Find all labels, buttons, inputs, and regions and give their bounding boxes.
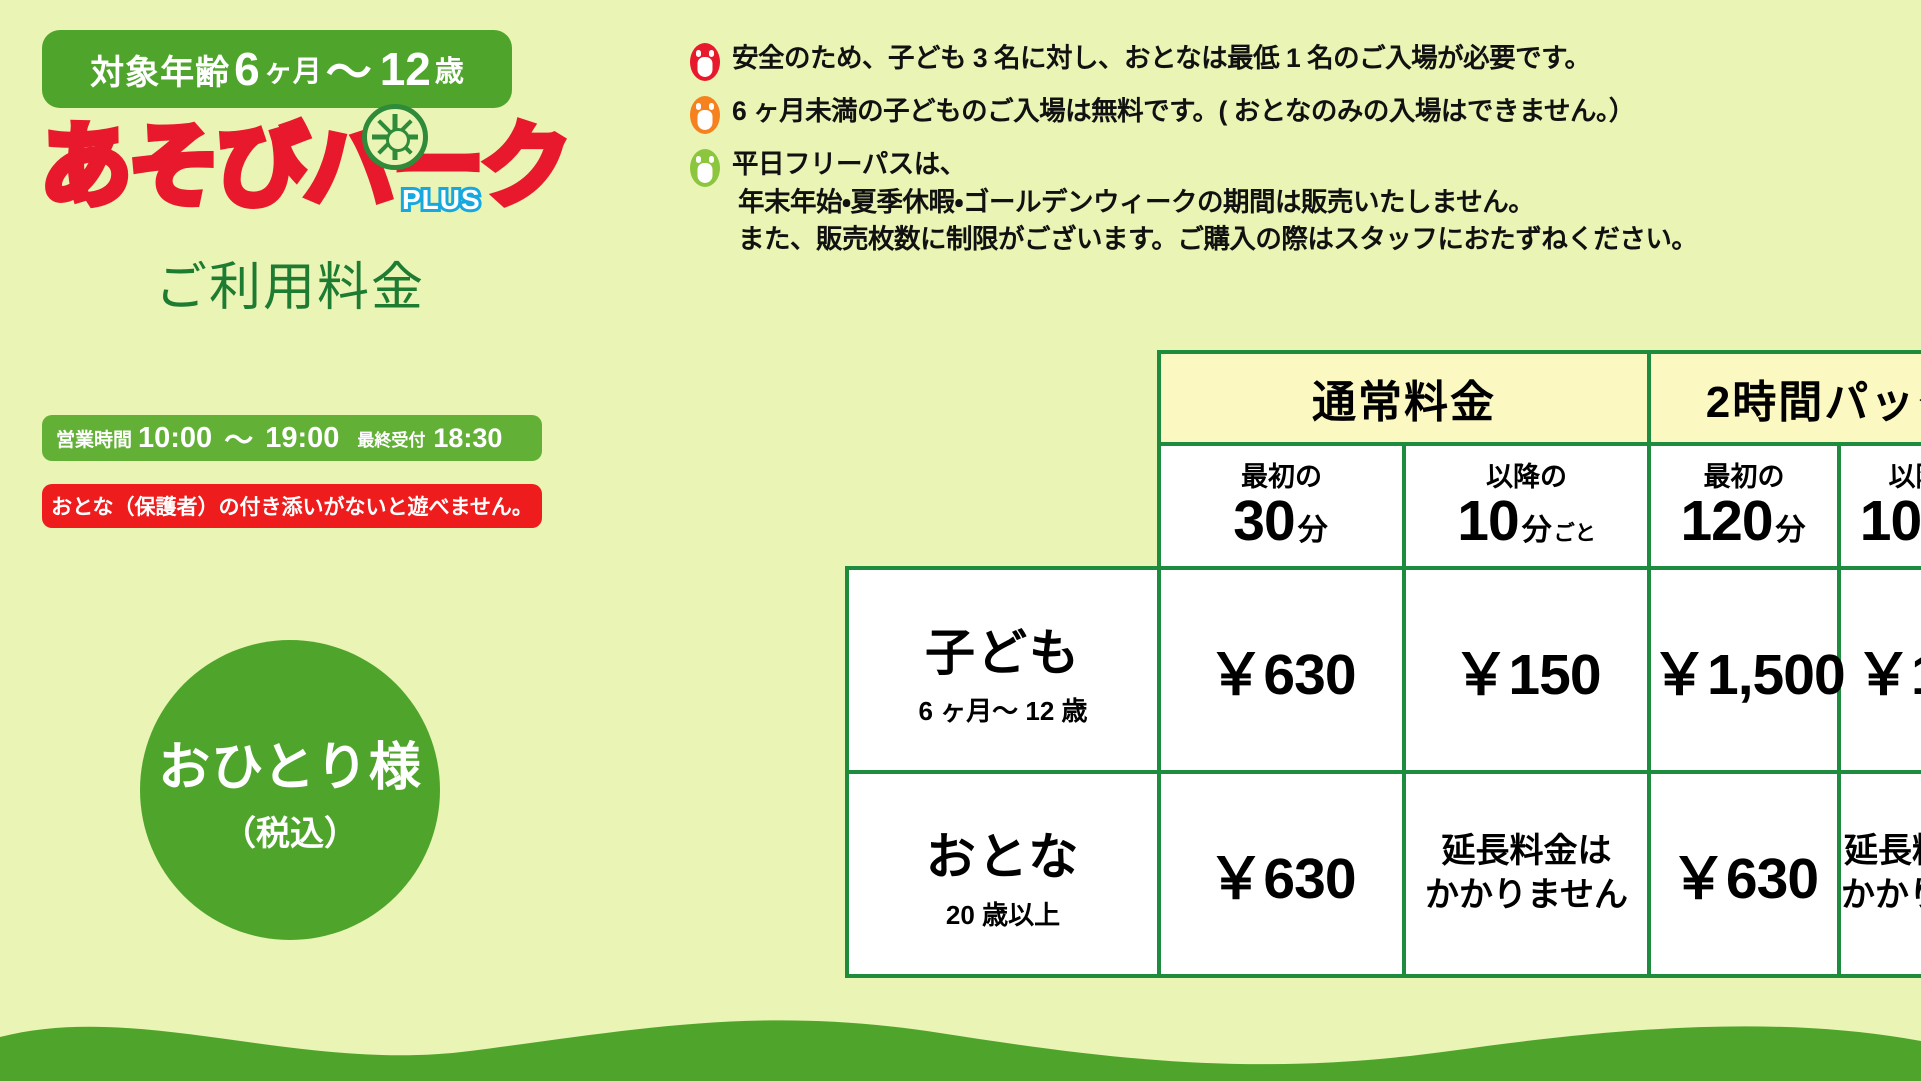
note-line: 年末年始・夏季休暇・ゴールデンウィークの期間は販売いたしません。 xyxy=(738,184,1697,222)
smiley-face-icon xyxy=(690,149,720,187)
per-person-label: おひとり様 xyxy=(158,725,421,800)
sub-header-normal-first: 最初の 30 分 xyxy=(1159,444,1404,568)
age-to-unit: 歳 xyxy=(435,48,464,90)
wheel-icon xyxy=(362,104,428,170)
page-subtitle: ご利用料金 xyxy=(40,245,540,320)
business-hours-bar: 営業時間 10:00 〜 19:00 最終受付 18:30 xyxy=(42,415,542,461)
price-adult-pack-first: ￥630 xyxy=(1649,772,1839,976)
price-child-pack-first: ￥1,500 xyxy=(1649,568,1839,772)
sub-header-number: 10 xyxy=(1457,493,1518,550)
note-text: 6 ヶ月未満の子どものご入場は無料です。( おとなのみの入場はできません。） xyxy=(732,93,1635,131)
age-to-number: 12 xyxy=(380,42,431,96)
plus-badge: PLUS xyxy=(402,184,481,216)
sub-header-normal-after: 以降の 10 分 ごと xyxy=(1404,444,1649,568)
note-line: 平日フリーパスは、 xyxy=(732,149,966,179)
age-from-number: 6 xyxy=(234,42,260,96)
notes-list: 安全のため、子ども 3 名に対し、おとなは最低 1 名のご入場が必要です。 6 … xyxy=(690,40,1890,271)
note-line: また、販売枚数に制限がございます。ご購入の際はスタッフにおたずねください。 xyxy=(738,221,1697,259)
logo-char-bi: び xyxy=(216,113,304,220)
group-header-normal: 通常料金 xyxy=(1159,352,1649,444)
tax-included-label: （税込） xyxy=(222,806,358,855)
logo-wordmark: あそびパーク xyxy=(40,112,568,222)
sub-header-pack-after: 以降の 10 分 ごと xyxy=(1839,444,1921,568)
price-adult-pack-after: 延長料金はかかりません xyxy=(1839,772,1921,976)
row-header-adult: おとな 20 歳以上 xyxy=(847,772,1159,976)
sub-header-number: 30 xyxy=(1233,493,1294,550)
table-group-header-row: 通常料金 2時間パック xyxy=(847,352,1921,444)
sub-header-pack-first: 最初の 120 分 xyxy=(1649,444,1839,568)
price-child-normal-after: ￥150 xyxy=(1404,568,1649,772)
table-corner-spacer xyxy=(847,352,1159,444)
price-adult-normal-after: 延長料金はかかりません xyxy=(1404,772,1649,976)
row-label: 子ども xyxy=(849,613,1157,685)
age-range-pill: 対象年齢 6 ヶ月 〜 12 歳 xyxy=(42,30,512,108)
row-label: おとな xyxy=(849,817,1157,889)
table-corner-spacer-2 xyxy=(847,444,1159,568)
hours-open-time: 10:00 xyxy=(138,422,212,455)
logo-char-ku: ク xyxy=(480,113,568,220)
row-header-child: 子ども 6 ヶ月〜 12 歳 xyxy=(847,568,1159,772)
row-sublabel: 20 歳以上 xyxy=(849,895,1157,932)
sub-header-unit2: ごと xyxy=(1554,523,1596,544)
price-child-pack-after: ￥150 xyxy=(1839,568,1921,772)
price-child-normal-first: ￥630 xyxy=(1159,568,1404,772)
sub-header-unit: 分 xyxy=(1776,516,1806,546)
price-adult-normal-first: ￥630 xyxy=(1159,772,1404,976)
note-line: 安全のため、子ども 3 名に対し、おとなは最低 1 名のご入場が必要です。 xyxy=(732,43,1590,73)
hours-close-time: 19:00 xyxy=(265,422,339,455)
age-range-label: 対象年齢 xyxy=(90,45,230,94)
asobi-park-plus-logo: あそびパーク PLUS xyxy=(40,112,540,232)
guardian-warning-text: おとな（保護者）の付き添いがないと遊べません。 xyxy=(51,491,533,521)
plus-badge-label: PLUS xyxy=(402,184,481,215)
sub-header-number: 10 xyxy=(1860,493,1921,550)
guardian-warning-bar: おとな（保護者）の付き添いがないと遊べません。 xyxy=(42,484,542,528)
age-from-unit: ヶ月 xyxy=(264,48,322,90)
sub-header-unit: 分 xyxy=(1522,516,1552,546)
last-entry-time: 18:30 xyxy=(433,423,502,454)
sub-header-number: 120 xyxy=(1680,493,1772,550)
note-item: 6 ヶ月未満の子どものご入場は無料です。( おとなのみの入場はできません。） xyxy=(690,93,1890,134)
hours-label: 営業時間 xyxy=(56,425,132,452)
table-row: 子ども 6 ヶ月〜 12 歳 ￥630 ￥150 ￥1,500 ￥150 xyxy=(847,568,1921,772)
pricing-table: 通常料金 2時間パック 最初の 30 分 以降の 10 分 ごと xyxy=(845,350,1921,978)
note-item: 安全のため、子ども 3 名に対し、おとなは最低 1 名のご入場が必要です。 xyxy=(690,40,1890,81)
table-row: おとな 20 歳以上 ￥630 延長料金はかかりません ￥630 延長料金はかか… xyxy=(847,772,1921,976)
smiley-face-icon xyxy=(690,43,720,81)
note-text: 安全のため、子ども 3 名に対し、おとなは最低 1 名のご入場が必要です。 xyxy=(732,40,1590,78)
per-person-badge: おひとり様 （税込） xyxy=(140,640,440,940)
left-column: 対象年齢 6 ヶ月 〜 12 歳 あそびパーク PLUS ご利用料金 営業時間 … xyxy=(0,0,680,1081)
note-line: 6 ヶ月未満の子どものご入場は無料です。( おとなのみの入場はできません。） xyxy=(732,96,1635,126)
sub-header-caption: 以降の xyxy=(1406,462,1647,493)
logo-char-a: あ xyxy=(40,113,128,220)
note-text: 平日フリーパスは、 年末年始・夏季休暇・ゴールデンウィークの期間は販売いたしませ… xyxy=(732,146,1697,259)
logo-char-so: そ xyxy=(128,113,216,220)
hours-tilde: 〜 xyxy=(224,417,253,459)
smiley-face-icon xyxy=(690,96,720,134)
note-item: 平日フリーパスは、 年末年始・夏季休暇・ゴールデンウィークの期間は販売いたしませ… xyxy=(690,146,1890,259)
table-sub-header-row: 最初の 30 分 以降の 10 分 ごと 最初の 120 xyxy=(847,444,1921,568)
pricing-poster: { "header": { "age_pill": { "label": "対象… xyxy=(0,0,1921,1081)
row-sublabel: 6 ヶ月〜 12 歳 xyxy=(849,691,1157,728)
age-range-tilde: 〜 xyxy=(326,36,372,102)
group-header-2hour-pack: 2時間パック xyxy=(1649,352,1921,444)
sub-header-unit: 分 xyxy=(1298,516,1328,546)
last-entry-label: 最終受付 xyxy=(357,426,425,451)
